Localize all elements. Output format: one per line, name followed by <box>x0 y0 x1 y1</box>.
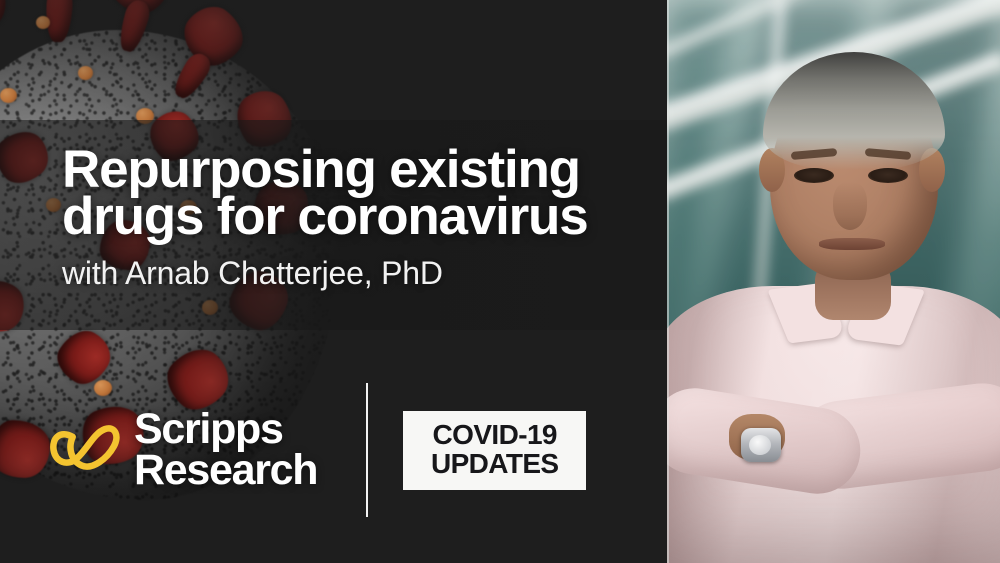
headline-line-1: Repurposing existing <box>62 146 652 193</box>
headline-subtitle: with Arnab Chatterjee, PhD <box>62 254 652 292</box>
branding-row: Scripps Research COVID-19 UPDATES <box>48 380 586 520</box>
scripps-wordmark: Scripps Research <box>134 409 317 491</box>
left-content-panel: Repurposing existing drugs for coronavir… <box>0 0 667 563</box>
vertical-divider <box>366 383 368 517</box>
video-thumbnail-card: Repurposing existing drugs for coronavir… <box>0 0 1000 563</box>
speaker-portrait-photo <box>667 0 1000 563</box>
covid-19-updates-badge: COVID-19 UPDATES <box>403 411 586 490</box>
photo-edge-seam <box>667 0 669 563</box>
headline-block: Repurposing existing drugs for coronavir… <box>62 146 652 292</box>
headline-line-2: drugs for coronavirus <box>62 193 652 240</box>
wordmark-line-2: Research <box>134 450 317 491</box>
scripps-research-logo: Scripps Research <box>48 409 317 491</box>
wordmark-line-1: Scripps <box>134 409 317 450</box>
scripps-infinity-mark <box>48 419 120 481</box>
portrait-color-grade <box>667 0 1000 563</box>
badge-line-2: UPDATES <box>419 449 570 478</box>
badge-line-1: COVID-19 <box>419 420 570 449</box>
